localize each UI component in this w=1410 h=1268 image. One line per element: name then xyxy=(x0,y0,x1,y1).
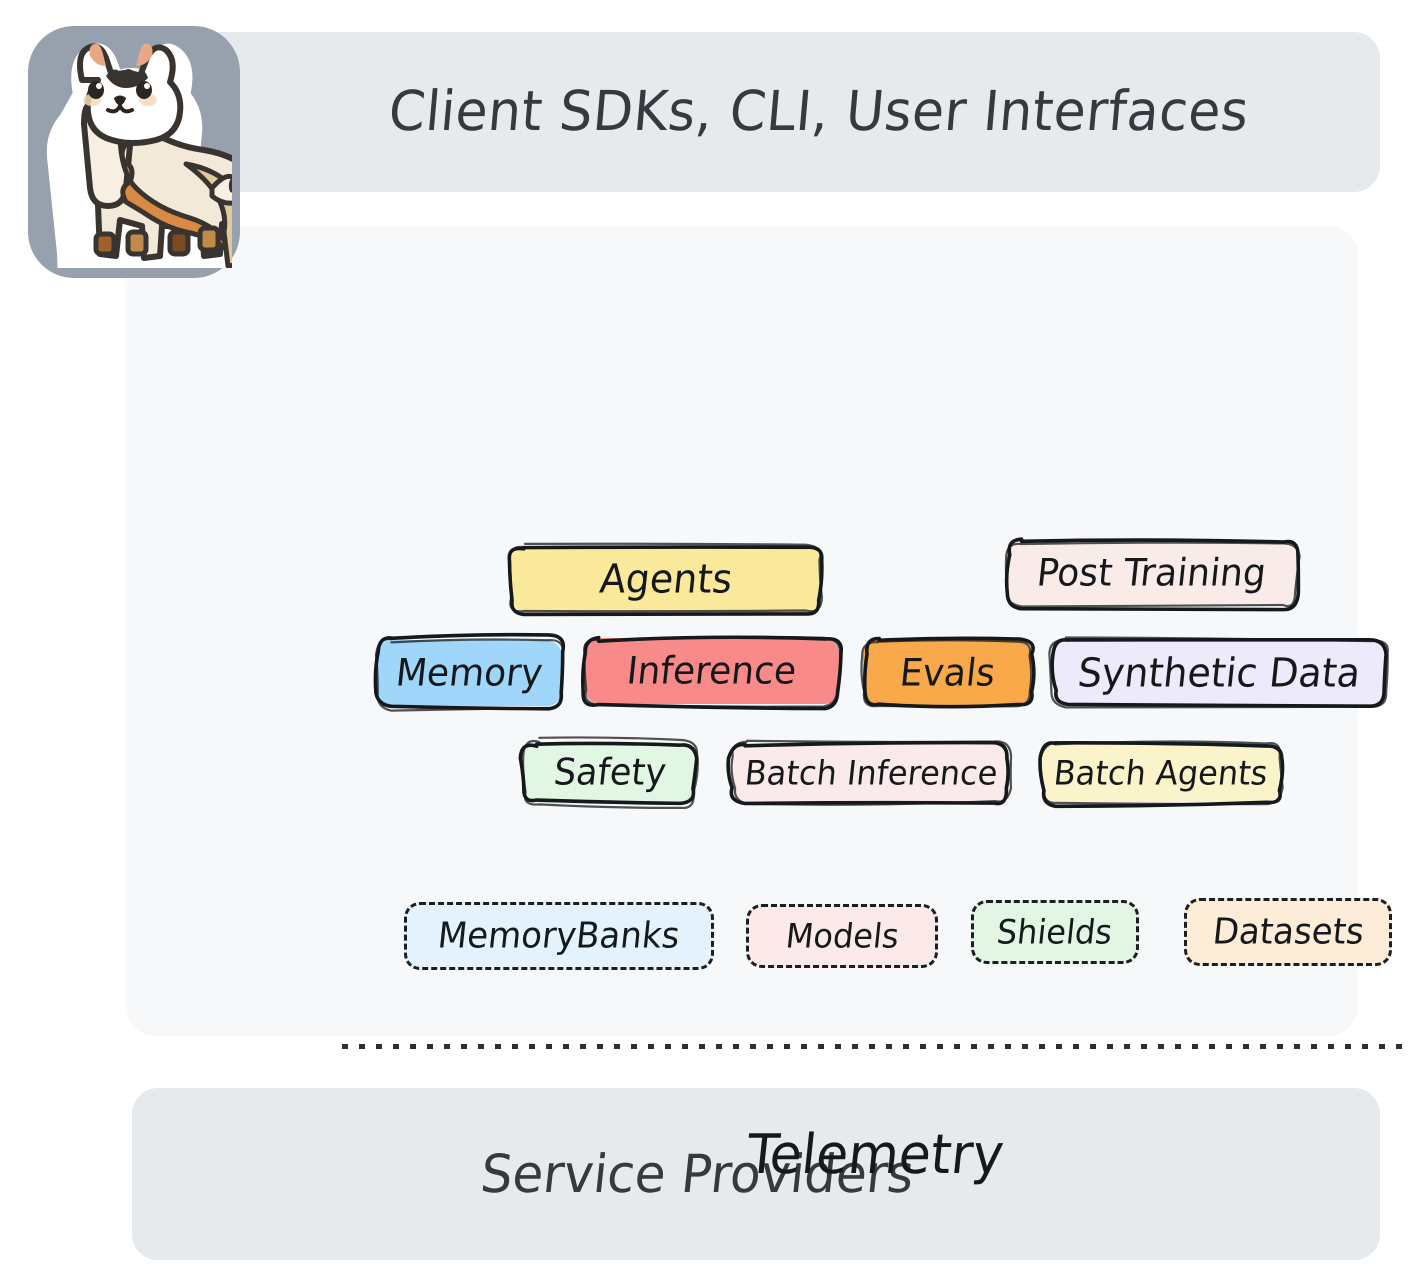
api-box-batch-inference[interactable]: Batch Inference xyxy=(732,744,1010,802)
api-box-evals[interactable]: Evals xyxy=(863,640,1031,706)
api-box-agents[interactable]: Agents xyxy=(511,546,821,612)
llama-logo-tile xyxy=(28,26,240,278)
page-title: Client SDKs, CLI, User Interfaces xyxy=(386,80,1251,144)
api-box-memory[interactable]: Memory xyxy=(377,640,562,706)
api-box-synthetic-data[interactable]: Synthetic Data xyxy=(1054,640,1384,706)
telemetry-box-label: Telemetry xyxy=(743,1124,1006,1187)
llama-logo-icon xyxy=(36,36,232,268)
api-box-safety[interactable]: Safety xyxy=(524,742,696,804)
resource-box-shields-label: Shields xyxy=(995,912,1114,952)
api-box-batch-agents-label: Batch Agents xyxy=(1052,753,1270,793)
api-box-batch-agents[interactable]: Batch Agents xyxy=(1041,744,1281,802)
api-box-batch-inference-label: Batch Inference xyxy=(743,753,1000,793)
resource-box-memorybanks-label: MemoryBanks xyxy=(436,915,682,957)
llama-stack-panel: AgentsPost TrainingMemoryInferenceEvalsS… xyxy=(126,226,1358,1036)
api-box-post-training[interactable]: Post Training xyxy=(1006,540,1296,606)
resource-box-models-label: Models xyxy=(784,916,901,956)
resource-box-memorybanks[interactable]: MemoryBanks xyxy=(404,902,714,970)
api-box-memory-label: Memory xyxy=(394,651,545,694)
client-layer-bar: Client SDKs, CLI, User Interfaces xyxy=(128,32,1380,192)
resource-box-datasets-label: Datasets xyxy=(1210,911,1365,953)
resource-box-datasets[interactable]: Datasets xyxy=(1184,898,1392,966)
resource-box-shields[interactable]: Shields xyxy=(971,900,1139,964)
api-box-inference[interactable]: Inference xyxy=(584,638,839,704)
resource-box-models[interactable]: Models xyxy=(746,904,938,968)
api-box-evals-label: Evals xyxy=(897,651,996,694)
api-box-inference-label: Inference xyxy=(625,649,799,692)
api-box-agents-label: Agents xyxy=(597,556,734,602)
api-box-post-training-label: Post Training xyxy=(1034,551,1267,594)
section-divider xyxy=(342,1044,1410,1049)
api-box-safety-label: Safety xyxy=(552,752,668,794)
api-box-synthetic-data-label: Synthetic Data xyxy=(1075,650,1362,696)
